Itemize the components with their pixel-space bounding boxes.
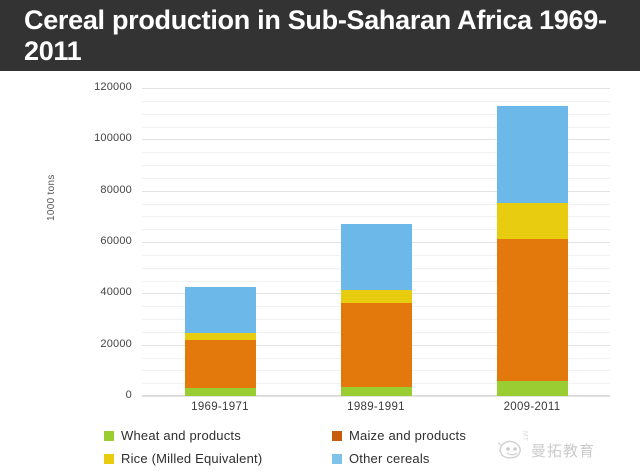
legend-swatch-icon <box>332 431 342 441</box>
bar-segment-rice[interactable] <box>185 333 256 340</box>
x-axis-tick-labels: 1969-19711989-19912009-2011 <box>142 401 610 423</box>
legend-swatch-icon <box>332 454 342 464</box>
y-axis-tick-label: 120000 <box>2 81 132 93</box>
gridline-major <box>142 396 610 397</box>
bar-segment-wheat[interactable] <box>497 381 568 396</box>
page-title: Cereal production in Sub-Saharan Africa … <box>0 5 640 67</box>
x-axis-tick-label: 1969-1971 <box>160 401 280 413</box>
legend-item-maize: Maize and products <box>332 428 466 443</box>
title-banner: Cereal production in Sub-Saharan Africa … <box>0 0 640 71</box>
bar-1969-1971[interactable] <box>185 88 256 396</box>
y-axis-tick-label: 80000 <box>2 184 132 196</box>
x-axis-tick-label: 1989-1991 <box>316 401 436 413</box>
y-axis-tick-label: 20000 <box>2 338 132 350</box>
bar-segment-wheat[interactable] <box>185 388 256 396</box>
bar-2009-2011[interactable] <box>497 88 568 396</box>
y-axis-tick-label: 40000 <box>2 286 132 298</box>
x-axis-tick-label: 2009-2011 <box>472 401 592 413</box>
legend-item-other-cereals: Other cereals <box>332 451 430 466</box>
y-axis-tick-label: 100000 <box>2 132 132 144</box>
bar-segment-wheat[interactable] <box>341 387 412 396</box>
y-axis-tick-label: 60000 <box>2 235 132 247</box>
bar-segment-rice[interactable] <box>497 203 568 239</box>
legend-swatch-icon <box>104 454 114 464</box>
legend-label: Maize and products <box>349 428 466 443</box>
y-axis-tick-label: 0 <box>2 389 132 401</box>
bar-segment-other[interactable] <box>497 106 568 203</box>
legend-item-rice: Rice (Milled Equivalent) <box>104 451 262 466</box>
legend-swatch-icon <box>104 431 114 441</box>
chart-container: 1000 tons 020000400006000080000100000120… <box>0 71 640 476</box>
bar-segment-other[interactable] <box>185 287 256 333</box>
legend-label: Other cereals <box>349 451 430 466</box>
plot-area <box>142 88 610 396</box>
bar-segment-maize[interactable] <box>185 340 256 388</box>
bar-segment-maize[interactable] <box>341 303 412 387</box>
bar-segment-other[interactable] <box>341 224 412 290</box>
legend-label: Rice (Milled Equivalent) <box>121 451 262 466</box>
legend-item-wheat: Wheat and products <box>104 428 241 443</box>
y-axis-tick-labels: 020000400006000080000100000120000 <box>0 88 138 396</box>
slide-root: Cereal production in Sub-Saharan Africa … <box>0 0 640 476</box>
bar-segment-rice[interactable] <box>341 290 412 303</box>
legend-label: Wheat and products <box>121 428 241 443</box>
bar-1989-1991[interactable] <box>341 88 412 396</box>
chart-legend: Wheat and products Maize and products Ri… <box>104 428 564 474</box>
bar-segment-maize[interactable] <box>497 239 568 381</box>
